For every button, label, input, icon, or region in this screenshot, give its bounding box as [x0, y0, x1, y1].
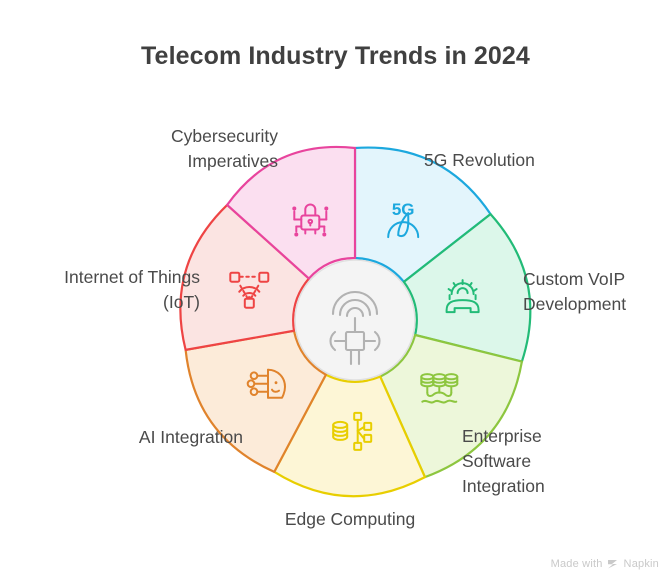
- label-enterprise-software-integration: Enterprise Software Integration: [462, 424, 662, 499]
- label-5g-revolution: 5G Revolution: [424, 148, 624, 173]
- watermark-prefix: Made with: [551, 558, 603, 570]
- napkin-logo-icon: [607, 558, 620, 570]
- label-cybersecurity-imperatives: Cybersecurity Imperatives: [58, 124, 278, 174]
- label-edge-computing: Edge Computing: [245, 507, 455, 532]
- label-ai-integration: AI Integration: [43, 425, 243, 450]
- watermark-brand: Napkin: [624, 558, 659, 570]
- label-custom-voip-development: Custom VoIP Development: [523, 267, 671, 317]
- diagram-page: Telecom Industry Trends in 2024 5G: [0, 0, 671, 582]
- napkin-watermark: Made with Napkin: [551, 558, 659, 570]
- label-internet-of-things: Internet of Things (IoT): [0, 265, 200, 315]
- center-hub: [295, 260, 415, 380]
- svg-text:5G: 5G: [392, 200, 415, 219]
